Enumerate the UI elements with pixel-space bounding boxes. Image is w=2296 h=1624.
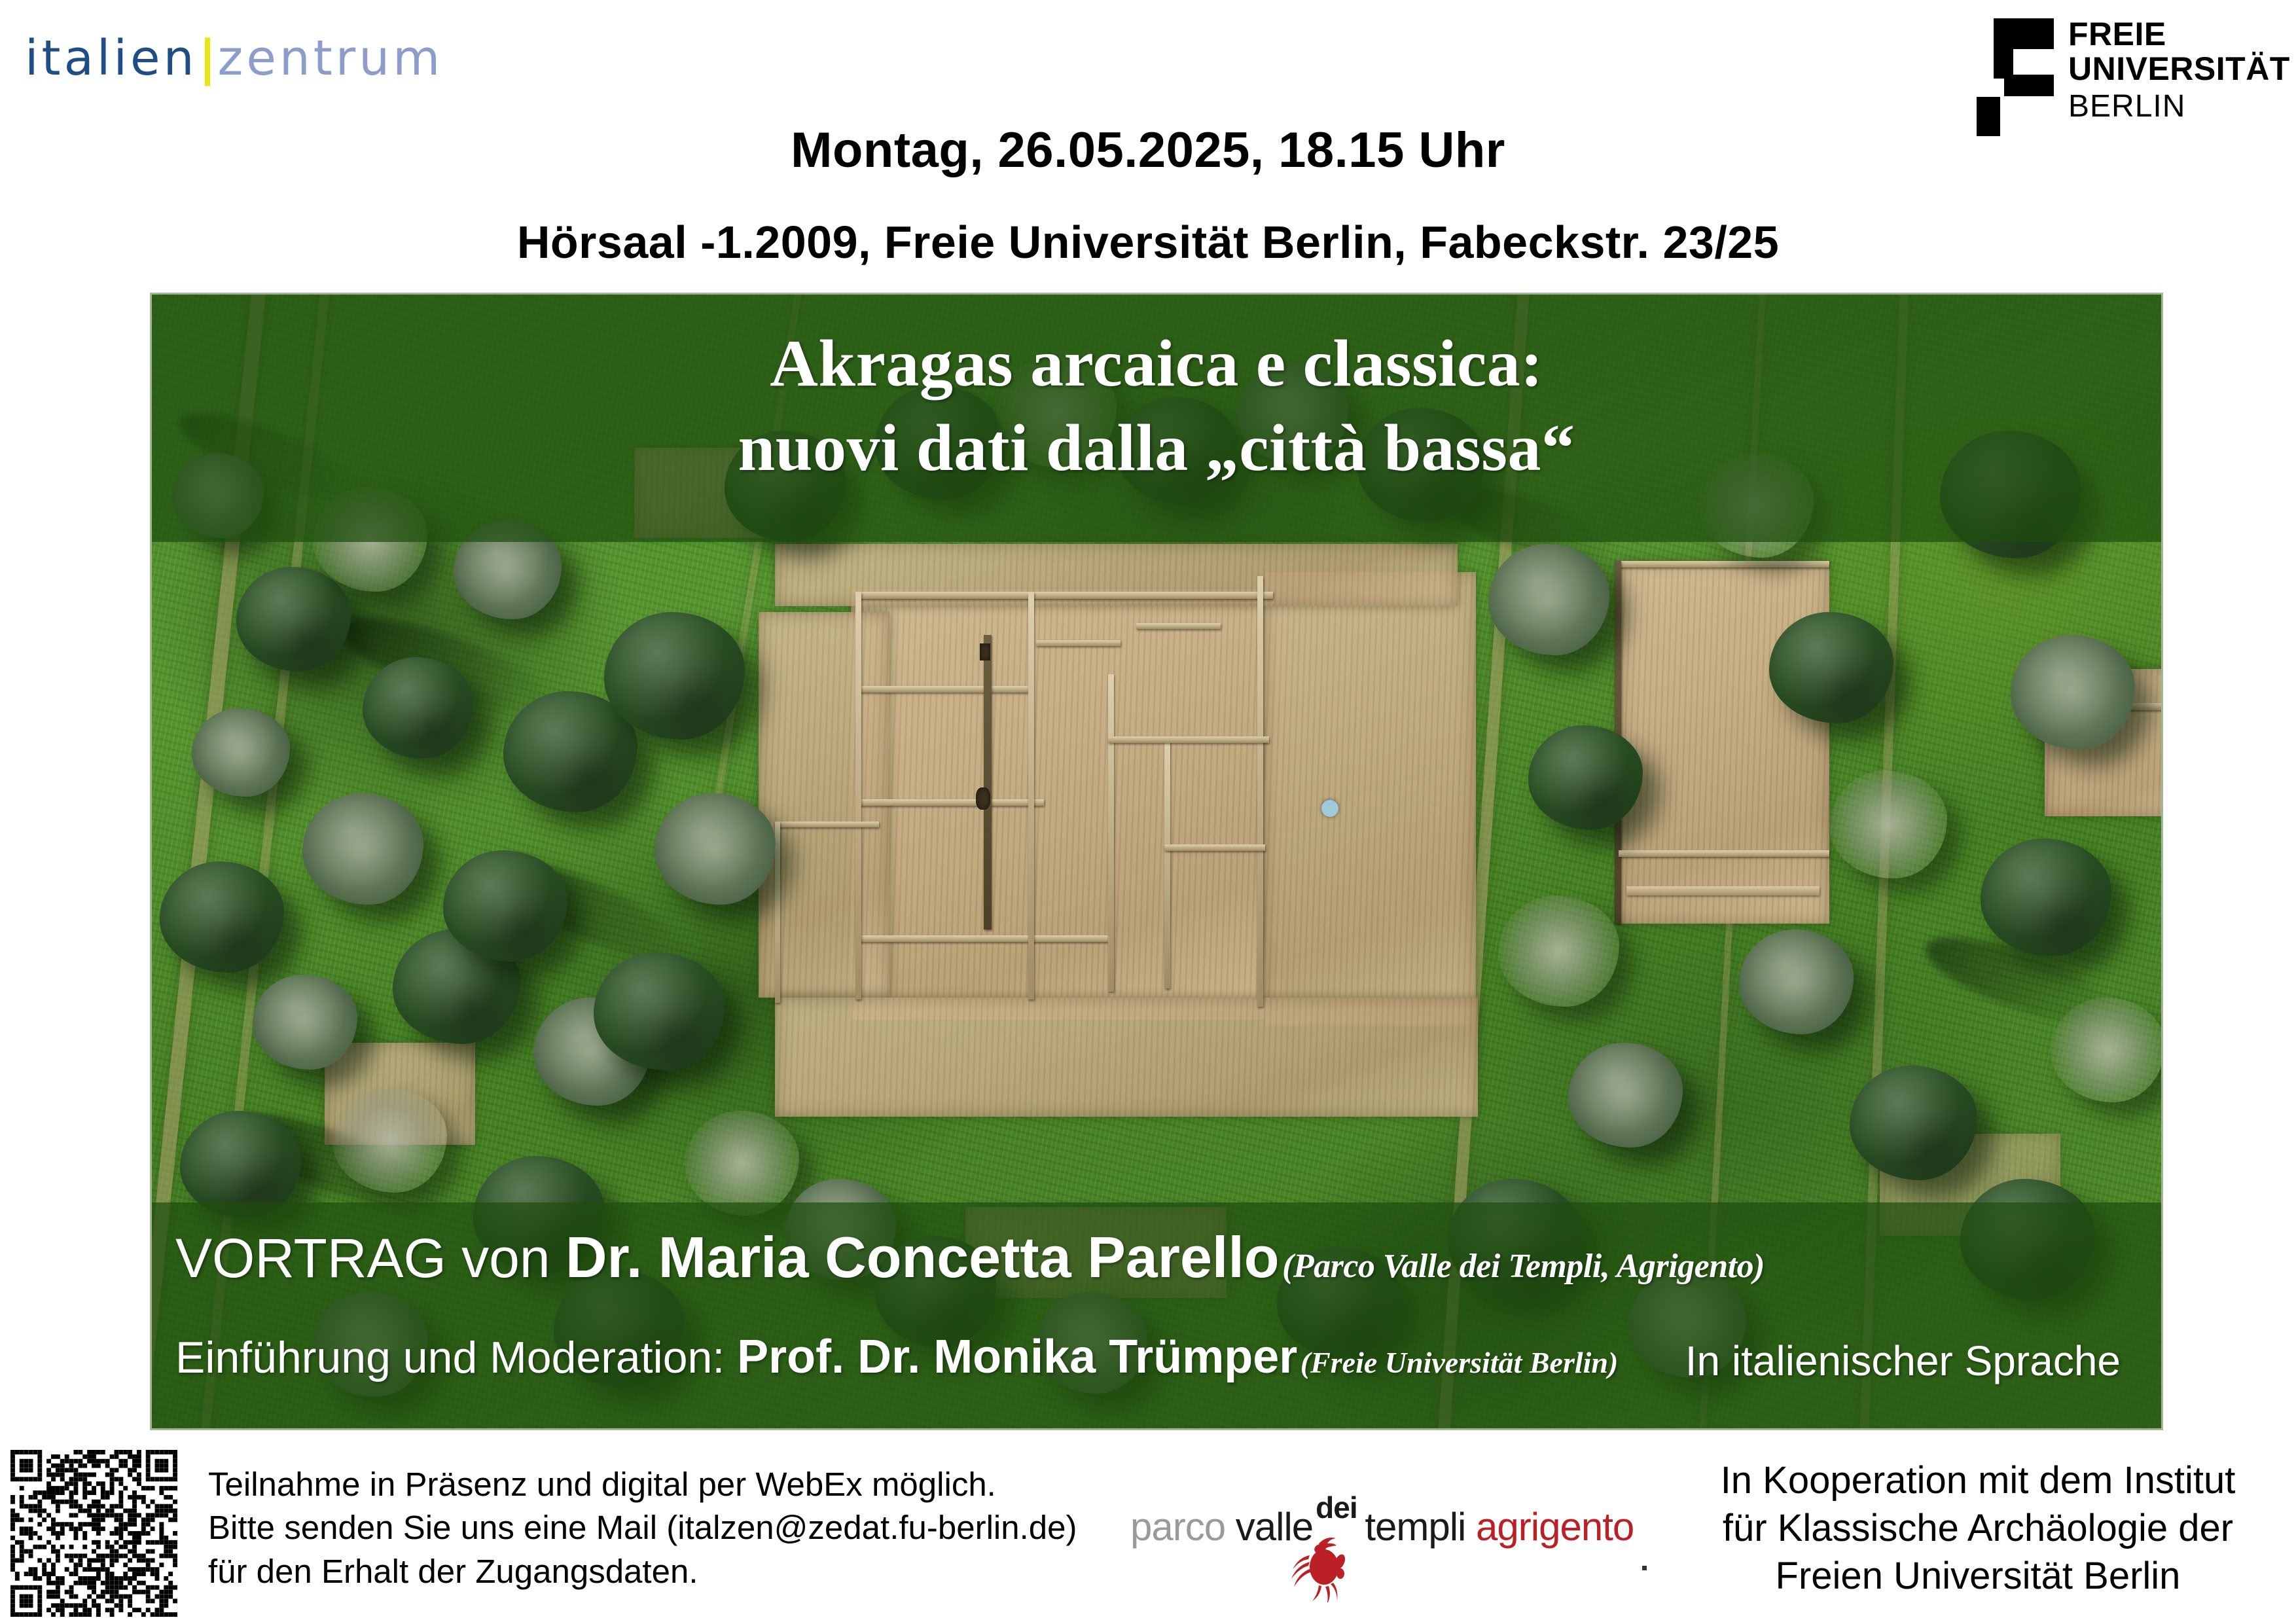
excavation-wall (1619, 561, 1829, 568)
moderation-credit: Einführung und Moderation: Prof. Dr. Mon… (175, 1330, 1618, 1384)
cooperation-info: In Kooperation mit dem Institut für Klas… (1690, 1456, 2266, 1600)
excavation-wall-shadowed (984, 635, 992, 929)
tree-canopy (253, 975, 357, 1070)
pvt-wordmark: parco valledei templi agrigento (1130, 1504, 1634, 1549)
tree-canopy (1850, 1066, 1977, 1180)
tree-canopy-bare (2051, 998, 2161, 1102)
tree-canopy (1528, 725, 1643, 830)
cooperation-line-3: Freien Universität Berlin (1690, 1552, 2266, 1600)
excavation-pit (980, 643, 990, 660)
tree-canopy-bare (332, 1088, 447, 1193)
excavation-trench-east (1265, 572, 1476, 1026)
logo-separator-bar: | (197, 30, 217, 86)
participation-info: Teilnahme in Präsenz und digital per Web… (208, 1463, 1077, 1593)
pvt-word-parco: parco (1130, 1505, 1225, 1549)
excavation-wall (1619, 850, 1829, 857)
poster-photo-block: Akragas arcaica e classica: nuovi dati d… (152, 295, 2161, 1428)
cooperation-line-1: In Kooperation mit dem Institut (1690, 1456, 2266, 1504)
tree-canopy (236, 567, 351, 672)
excavation-wall (1164, 844, 1265, 851)
tree-canopy (363, 657, 474, 759)
moderator-name: Prof. Dr. Monika Trümper (737, 1331, 1297, 1383)
fu-line-universitaet: UNIVERSITÄT (2068, 52, 2290, 86)
tree-canopy (655, 793, 776, 905)
tree-canopy (1739, 929, 1854, 1034)
tree-canopy (160, 861, 284, 973)
qr-code[interactable] (10, 1450, 177, 1617)
excavation-trench-southstrip (775, 998, 1479, 1117)
fu-wordmark: FREIE UNIVERSITÄT BERLIN (2068, 17, 2290, 124)
fu-line-freie: FREIE (2068, 17, 2290, 52)
excavation-wall (859, 799, 1044, 806)
tree-canopy (1488, 544, 1609, 655)
excavation-wall (1108, 674, 1114, 992)
logo-text-italien: italien (25, 30, 197, 86)
moderator-affiliation: (Freie Universität Berlin) (1300, 1346, 1619, 1379)
speaker-name: Dr. Maria Concetta Parello (565, 1225, 1280, 1290)
excavation-wall (1028, 592, 1034, 1000)
pvt-registration-dot (1642, 1566, 1647, 1570)
participation-line-3: für den Erhalt der Zugangsdaten. (208, 1550, 1077, 1593)
excavation-wall (1164, 739, 1170, 988)
speaker-credit: VORTRAG von Dr. Maria Concetta Parello (… (175, 1224, 1765, 1291)
excavation-wall (859, 935, 1113, 942)
tree-canopy-bare (1829, 770, 1947, 878)
lecture-title-line1: Akragas arcaica e classica: (152, 322, 2161, 406)
lecture-title: Akragas arcaica e classica: nuovi dati d… (152, 322, 2161, 490)
event-venue: Hörsaal -1.2009, Freie Universität Berli… (0, 216, 2296, 268)
logo-text-zentrum: zentrum (218, 30, 444, 86)
tree-canopy (604, 612, 745, 740)
pvt-word-dei: dei (1316, 1490, 1357, 1525)
speaker-affiliation: (Parco Valle dei Templi, Agrigento) (1282, 1248, 1765, 1285)
excavation-wall (775, 821, 880, 827)
italienzentrum-logo: italien|zentrum (25, 34, 443, 82)
tree-canopy-bare (685, 1111, 799, 1216)
fu-berlin-logo: FREIE UNIVERSITÄT BERLIN (1977, 12, 2265, 136)
parco-valle-dei-templi-logo: parco valledei templi agrigento (1130, 1486, 1654, 1610)
excavation-wall (1257, 576, 1263, 1007)
event-date-time: Montag, 26.05.2025, 18.15 Uhr (0, 122, 2296, 179)
speaker-prefix: VORTRAG von (175, 1227, 565, 1289)
pvt-word-agrigento: agrigento (1476, 1505, 1634, 1549)
excavation-wall (855, 592, 861, 1000)
tree-canopy (192, 708, 290, 797)
excavation-wall (859, 686, 1032, 693)
language-note: In italienischer Sprache (1685, 1337, 2121, 1385)
tree-canopy-bare (1498, 895, 1619, 1007)
tree-canopy (1769, 612, 1893, 723)
moderation-prefix: Einführung und Moderation: (175, 1333, 737, 1382)
tree-canopy (1568, 1043, 1683, 1147)
tree-canopy (302, 793, 423, 905)
excavation-wall (1108, 736, 1269, 743)
fu-f-mark-icon (1977, 18, 2054, 130)
cooperation-line-2: für Klassische Archäologie der (1690, 1504, 2266, 1552)
tree-canopy (2011, 635, 2135, 749)
pvt-word-templi: templi (1365, 1505, 1465, 1549)
participation-line-2: Bitte senden Sie uns eine Mail (italzen@… (208, 1506, 1077, 1549)
excavation-wall (859, 592, 1273, 599)
fu-line-berlin: BERLIN (2068, 90, 2290, 124)
excavation-wall (1036, 640, 1121, 646)
excavation-trench-right (1619, 561, 1829, 924)
excavation-pit (976, 787, 990, 810)
crab-icon (1280, 1524, 1371, 1602)
excavation-wall (1136, 623, 1221, 629)
excavation-wall (775, 821, 780, 1003)
participation-line-1: Teilnahme in Präsenz und digital per Web… (208, 1463, 1077, 1506)
tree-canopy (594, 952, 725, 1070)
lecture-title-line2: nuovi dati dalla „città bassa“ (152, 406, 2161, 491)
tree-canopy (1981, 839, 2111, 956)
tree-canopy (443, 850, 567, 962)
excavation-wall (1626, 886, 1820, 895)
